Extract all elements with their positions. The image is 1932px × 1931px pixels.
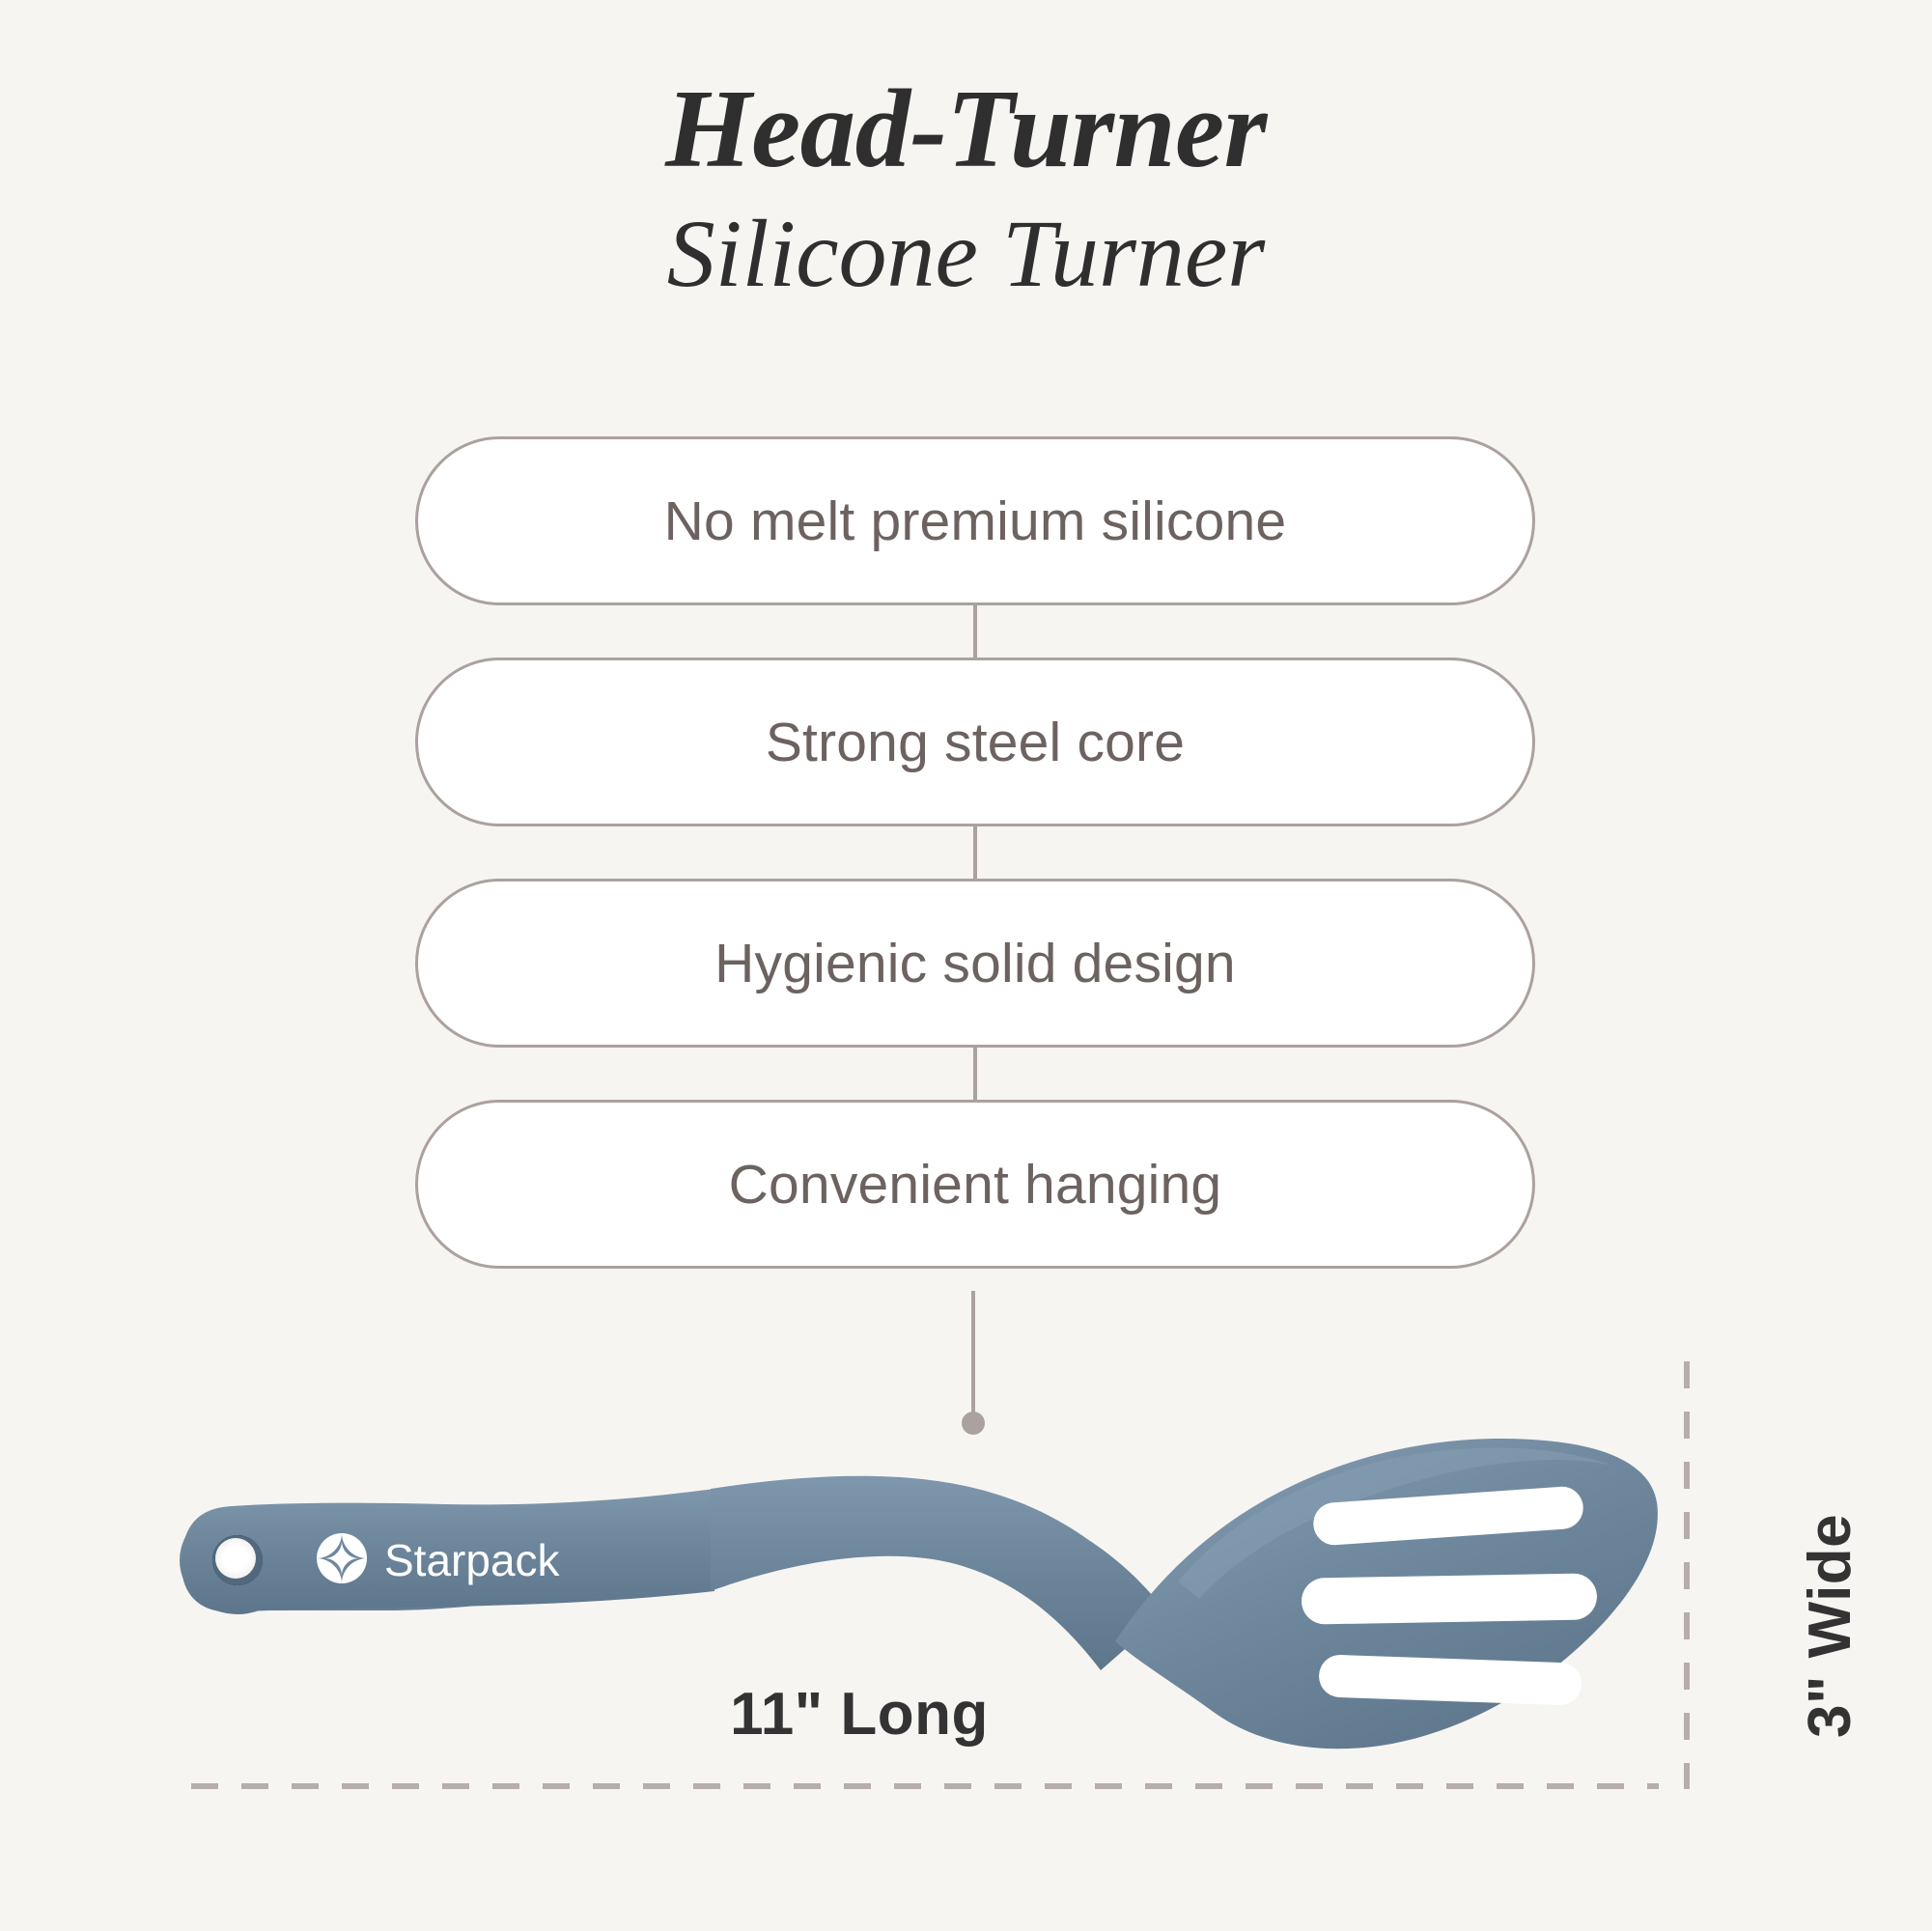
feature-pill-convenient-hanging: Convenient hanging: [415, 1100, 1535, 1269]
feature-connector-line: [973, 826, 977, 879]
feature-pill-no-melt-premium-silicone: No melt premium silicone: [415, 436, 1535, 605]
feature-pill-hygienic-solid-design: Hygienic solid design: [415, 879, 1535, 1048]
pointer-line: [971, 1291, 975, 1416]
feature-pill-strong-steel-core: Strong steel core: [415, 658, 1535, 826]
feature-row: Hygienic solid design: [415, 879, 1535, 1048]
feature-connector-line: [973, 1048, 977, 1100]
infographic-canvas: Head-Turner Silicone Turner No melt prem…: [0, 0, 1932, 1931]
turner-slot: [1302, 1573, 1598, 1624]
feature-row: Convenient hanging: [415, 1100, 1535, 1269]
brand-lockup: Starpack: [317, 1533, 561, 1585]
feature-list: No melt premium silicone Strong steel co…: [415, 436, 1535, 1269]
feature-row: No melt premium silicone: [415, 436, 1535, 605]
page-title: Head-Turner: [0, 68, 1932, 192]
title-block: Head-Turner Silicone Turner: [0, 68, 1932, 309]
feature-label: No melt premium silicone: [664, 490, 1287, 553]
feature-label: Hygienic solid design: [714, 932, 1236, 995]
brand-name: Starpack: [384, 1535, 561, 1585]
feature-row: Strong steel core: [415, 658, 1535, 826]
pointer-dot: [962, 1412, 985, 1435]
width-guide-line: [1684, 1361, 1690, 1789]
feature-label: Strong steel core: [766, 711, 1185, 774]
feature-connector-line: [973, 605, 977, 658]
length-guide-line: [191, 1783, 1659, 1789]
hanging-hole: [212, 1535, 263, 1585]
starpack-diamond-icon: [317, 1533, 367, 1583]
page-subtitle: Silicone Turner: [0, 198, 1932, 309]
turner-slots: [1302, 1485, 1598, 1705]
length-label: 11" Long: [589, 1680, 1130, 1749]
feature-label: Convenient hanging: [729, 1153, 1222, 1217]
width-label: 3" Wide: [1796, 1514, 1864, 1738]
